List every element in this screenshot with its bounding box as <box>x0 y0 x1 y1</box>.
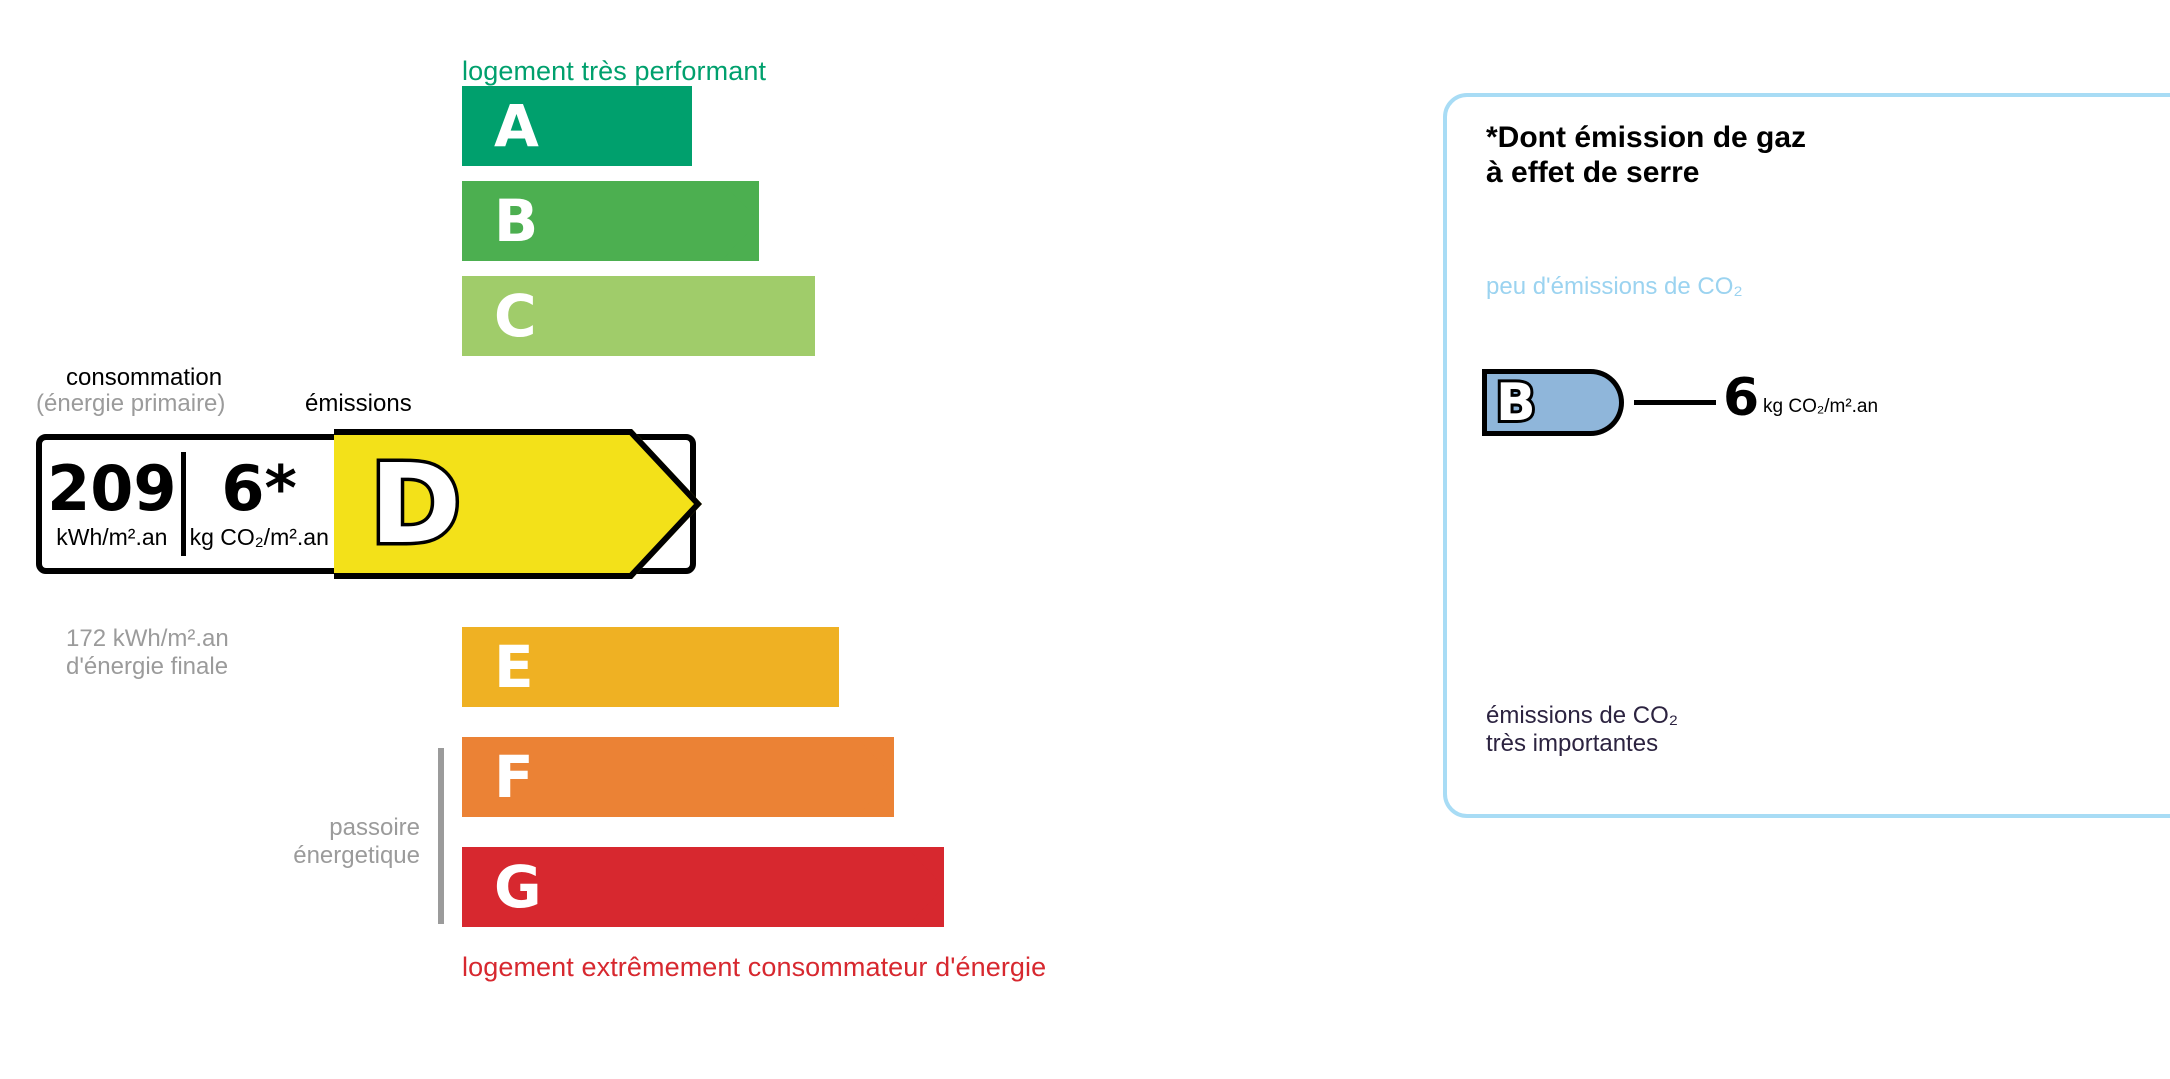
ges-leader-line <box>1634 400 1716 405</box>
ges-bar-e: E <box>1486 552 1702 598</box>
consumption-unit: kWh/m².an <box>56 524 167 551</box>
energy-bar-a: A <box>462 86 692 166</box>
ges-bar-d: D <box>1486 500 1676 546</box>
final-energy-line2: d'énergie finale <box>66 653 229 681</box>
emissions-value: 6* <box>221 458 297 520</box>
energy-bar-a-letter: A <box>494 97 539 155</box>
ges-bar-b: B <box>1482 369 1624 436</box>
emissions-title: émissions <box>305 390 412 418</box>
ges-title-line1: *Dont émission de gaz <box>1486 120 1806 155</box>
ges-unit: kg CO₂/m².an <box>1763 396 1878 418</box>
ges-bar-c-letter: C <box>1500 453 1525 487</box>
value-divider <box>181 452 186 556</box>
consumption-value-cell: 209 kWh/m².an <box>47 434 176 574</box>
final-energy-note: 172 kWh/m².an d'énergie finale <box>66 625 229 681</box>
ges-title-line2: à effet de serre <box>1486 155 1806 190</box>
energy-bar-f: F <box>462 737 894 817</box>
energy-bar-d-letter: D <box>370 449 461 559</box>
ges-bar-g: G <box>1486 656 1759 702</box>
final-energy-line1: 172 kWh/m².an <box>66 625 229 653</box>
ges-value: 6 <box>1723 372 1759 424</box>
energy-bar-g-letter: G <box>494 858 542 916</box>
energy-bar-f-letter: F <box>494 748 534 806</box>
ges-bar-d-letter: D <box>1500 506 1528 540</box>
consumption-title: consommation <box>66 364 222 392</box>
passoire-label: passoire énergetique <box>180 814 420 870</box>
energy-bar-c-letter: C <box>494 287 537 345</box>
energy-bar-b: B <box>462 181 759 261</box>
emissions-unit: kg CO₂/m².an <box>190 524 329 551</box>
energy-bar-b-letter: B <box>494 192 538 250</box>
energy-bottom-caption: logement extrêmement consommateur d'éner… <box>462 952 1046 983</box>
ges-bar-a-letter: A <box>1500 319 1526 353</box>
ges-bar-c: C <box>1486 447 1649 493</box>
emissions-value-cell: 6* kg CO₂/m².an <box>190 434 329 574</box>
ges-bottom-caption: émissions de CO₂ très importantes <box>1486 702 1678 758</box>
passoire-line1: passoire <box>180 814 420 842</box>
ges-bar-f: F <box>1486 604 1731 650</box>
ges-bar-b-letter: B <box>1496 377 1536 429</box>
energy-performance-scale: logement très performant A B C consommat… <box>0 0 1320 1079</box>
energy-bar-c: C <box>462 276 815 356</box>
ges-title: *Dont émission de gaz à effet de serre <box>1486 120 1806 190</box>
energy-bar-e-letter: E <box>494 638 534 696</box>
ges-bar-g-letter: G <box>1500 662 1528 696</box>
energy-bar-d: D <box>334 429 702 579</box>
energy-current-row: 209 kWh/m².an 6* kg CO₂/m².an D <box>36 434 696 574</box>
ges-bar-a: A <box>1486 313 1591 359</box>
consumption-value: 209 <box>47 458 176 520</box>
ges-bar-f-letter: F <box>1500 610 1523 644</box>
energy-bar-g: G <box>462 847 944 927</box>
energy-bar-e: E <box>462 627 839 707</box>
energy-current-values: 209 kWh/m².an 6* kg CO₂/m².an <box>36 434 340 574</box>
passoire-indicator-line <box>438 748 444 924</box>
passoire-line2: énergetique <box>180 842 420 870</box>
ges-bar-e-letter: E <box>1500 558 1523 592</box>
energy-top-caption: logement très performant <box>462 56 766 87</box>
ges-top-caption: peu d'émissions de CO₂ <box>1486 273 1743 301</box>
ges-bottom-caption-line1: émissions de CO₂ <box>1486 702 1678 730</box>
consumption-subtitle: (énergie primaire) <box>36 390 225 418</box>
ges-bottom-caption-line2: très importantes <box>1486 730 1678 758</box>
